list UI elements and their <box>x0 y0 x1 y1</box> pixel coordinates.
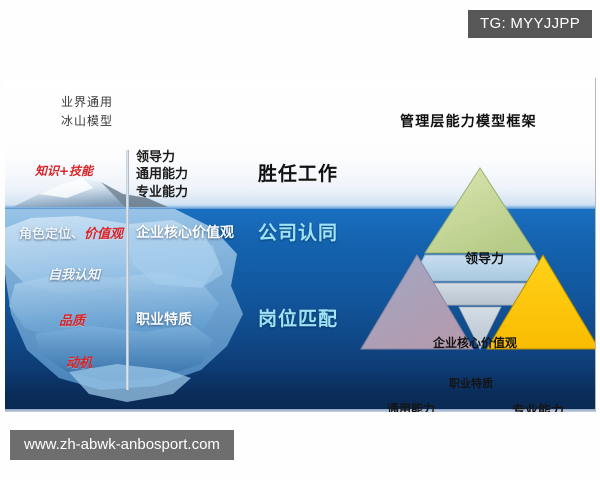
iceberg-heading-line2: 冰山模型 <box>61 112 113 131</box>
pyramid-label-leadership: 领导力 <box>465 248 504 267</box>
ability-leadership: 领导力 <box>136 149 188 166</box>
screenshot-canvas: 业界通用 冰山模型 知识+技能 角色定位、价值观 自我认知 品质 动机 领导力 … <box>0 0 600 480</box>
iceberg-heading-line1: 业界通用 <box>61 93 113 112</box>
label-core-values: 企业核心价值观 <box>136 225 234 242</box>
label-values: 价值观 <box>84 227 123 242</box>
label-motivation: 动机 <box>66 356 92 371</box>
outcome-job-match: 岗位匹配 <box>258 308 338 330</box>
pyramid-label-professional-ability: 专业能力 <box>512 400 564 412</box>
slide-content: 业界通用 冰山模型 知识+技能 角色定位、价值观 自我认知 品质 动机 领导力 … <box>5 78 596 412</box>
top-watermark: TG: MYYJJPP <box>468 10 592 38</box>
ability-general: 通用能力 <box>136 166 188 183</box>
iceberg-model-heading: 业界通用 冰山模型 <box>61 93 113 130</box>
iceberg-illustration <box>5 78 265 412</box>
pyramid-label-general-ability: 通用能力 <box>387 400 435 412</box>
bottom-watermark: www.zh-abwk-anbosport.com <box>10 430 234 460</box>
label-knowledge-skills: 知识+技能 <box>35 164 93 178</box>
outcome-company-identification: 公司认同 <box>258 222 338 244</box>
ability-professional: 专业能力 <box>136 184 188 201</box>
competency-pyramid: 领导力 企业核心价值观 职业特质 通用能力 专业能力 <box>355 163 596 363</box>
pyramid-title: 管理层能力模型框架 <box>400 114 537 131</box>
vertical-divider <box>126 150 129 390</box>
outcome-competent-work: 胜任工作 <box>258 163 338 185</box>
label-role-and-values: 角色定位、价值观 <box>19 227 123 242</box>
pyramid-label-professional-traits: 职业特质 <box>449 375 493 391</box>
label-role-positioning: 角色定位、 <box>19 227 84 242</box>
label-quality: 品质 <box>59 314 85 329</box>
pyramid-label-core-values: 企业核心价值观 <box>433 334 517 351</box>
label-professional-traits: 职业特质 <box>136 312 192 329</box>
label-self-cognition: 自我认知 <box>48 268 100 283</box>
abilities-column: 领导力 通用能力 专业能力 <box>136 149 188 201</box>
